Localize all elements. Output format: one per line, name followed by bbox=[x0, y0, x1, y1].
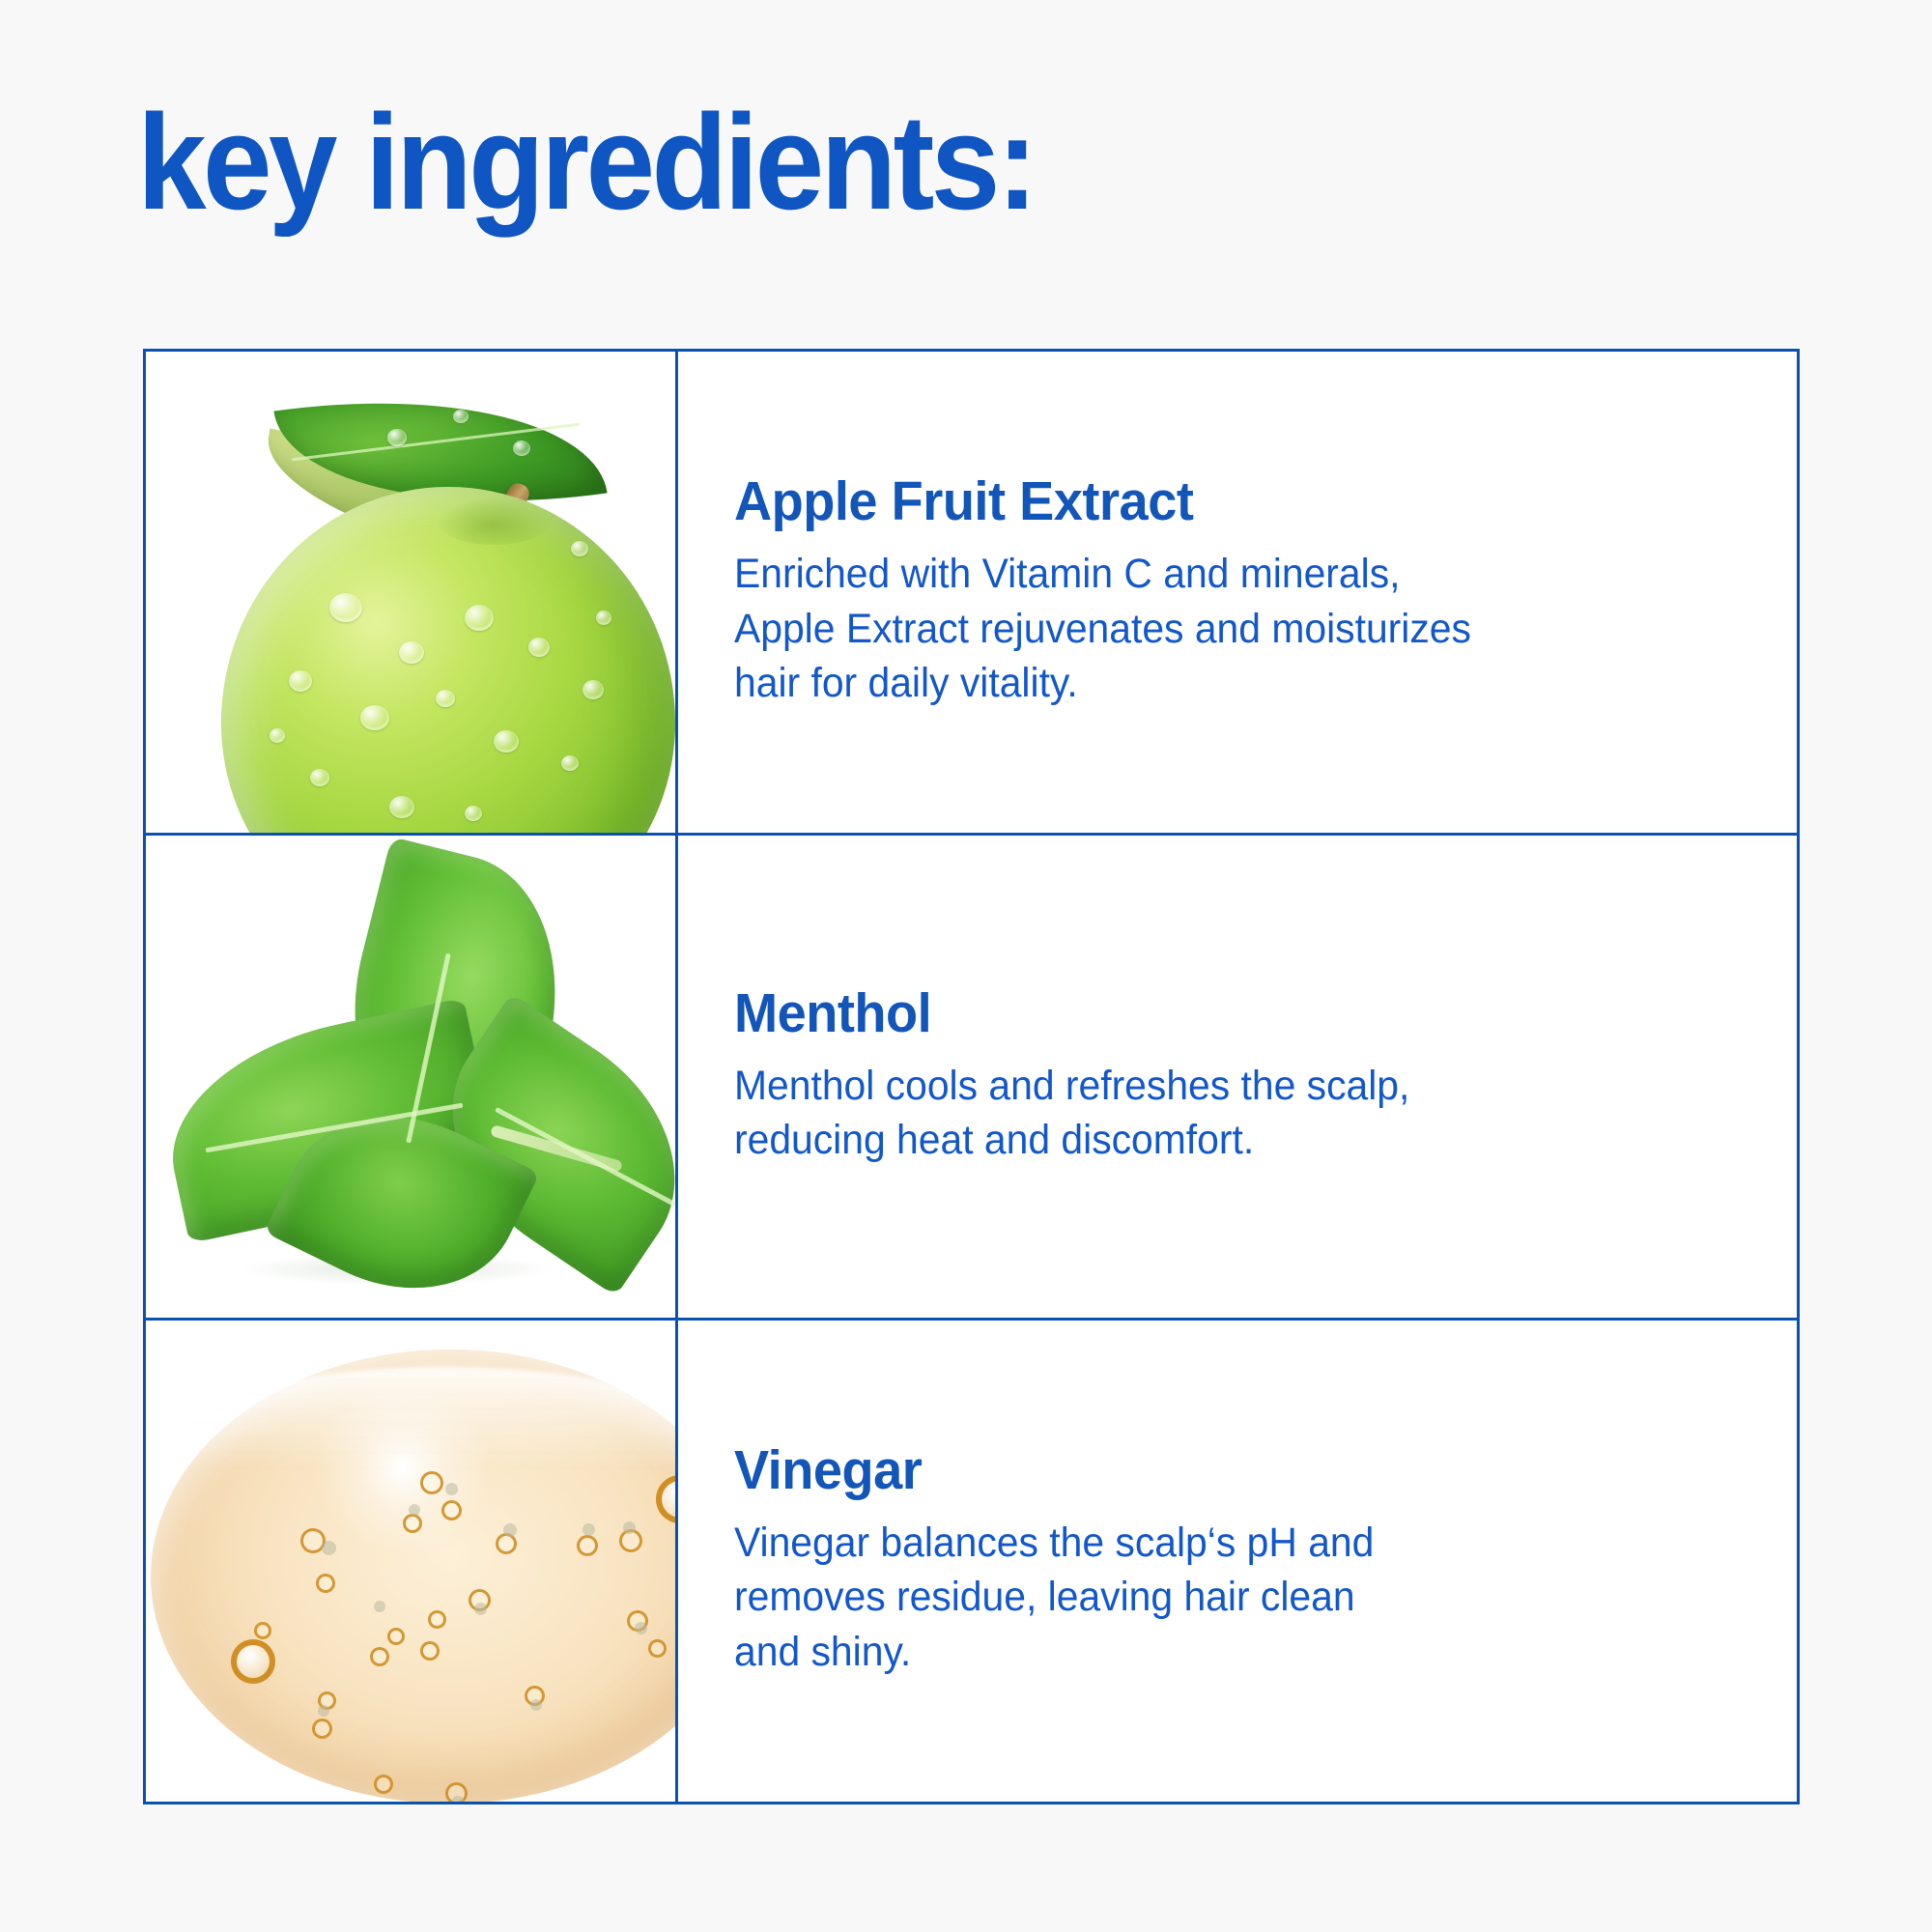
bubble-icon bbox=[387, 1628, 405, 1645]
bubble-dot-icon bbox=[374, 1601, 385, 1612]
water-drop-icon bbox=[453, 410, 469, 423]
bubble-dot-icon bbox=[582, 1523, 595, 1536]
ingredient-title: Menthol bbox=[734, 985, 1707, 1043]
ingredient-description: Vinegar balances the scalp‘s pH and remo… bbox=[734, 1516, 1707, 1680]
bubble-dot-icon bbox=[623, 1521, 636, 1534]
bubble-icon bbox=[374, 1775, 393, 1794]
water-drop-icon bbox=[289, 670, 312, 692]
water-drop-icon bbox=[310, 769, 329, 786]
water-drop-icon bbox=[436, 690, 455, 707]
bubble-icon bbox=[428, 1610, 446, 1629]
ingredient-image-apple bbox=[146, 352, 678, 833]
water-drop-icon bbox=[329, 593, 362, 622]
apple-body bbox=[221, 487, 675, 833]
bubble-icon bbox=[231, 1639, 275, 1684]
page-title: key ingredients: bbox=[137, 95, 1035, 230]
water-drop-icon bbox=[561, 755, 579, 771]
water-drop-icon bbox=[513, 440, 530, 456]
ingredient-title: Vinegar bbox=[734, 1442, 1707, 1500]
bubble-icon bbox=[403, 1514, 422, 1533]
water-drop-icon bbox=[465, 605, 494, 631]
ingredient-row: Apple Fruit Extract Enriched with Vitami… bbox=[146, 352, 1797, 836]
bubble-icon bbox=[420, 1471, 443, 1494]
apple-dimple bbox=[436, 497, 552, 545]
water-drop-icon bbox=[494, 730, 519, 753]
ingredient-image-vinegar bbox=[146, 1321, 678, 1802]
mint-illustration bbox=[146, 836, 675, 1317]
bubble-dot-icon bbox=[318, 1705, 329, 1717]
ingredient-row: Menthol Menthol cools and refreshes the … bbox=[146, 836, 1797, 1320]
ingredient-row: Vinegar Vinegar balances the scalp‘s pH … bbox=[146, 1321, 1797, 1802]
ingredients-grid: Apple Fruit Extract Enriched with Vitami… bbox=[143, 349, 1800, 1804]
bubble-icon bbox=[370, 1647, 389, 1666]
water-drop-icon bbox=[528, 638, 550, 657]
water-drop-icon bbox=[465, 806, 482, 821]
bubble-dot-icon bbox=[530, 1699, 542, 1711]
ingredient-text-menthol: Menthol Menthol cools and refreshes the … bbox=[678, 836, 1797, 1317]
key-ingredients-page: key ingredients: bbox=[0, 0, 1932, 1932]
ingredient-title: Apple Fruit Extract bbox=[734, 473, 1707, 531]
ingredient-text-apple: Apple Fruit Extract Enriched with Vitami… bbox=[678, 352, 1797, 833]
ingredient-image-menthol bbox=[146, 836, 678, 1317]
bubble-dot-icon bbox=[474, 1603, 487, 1615]
water-drop-icon bbox=[389, 796, 414, 818]
bubble-dot-icon bbox=[445, 1483, 458, 1495]
bubble-dot-icon bbox=[322, 1541, 336, 1555]
bubble-icon bbox=[254, 1622, 271, 1639]
apple-illustration bbox=[146, 352, 675, 833]
bubble-icon bbox=[420, 1641, 440, 1661]
ingredient-description: Menthol cools and refreshes the scalp, r… bbox=[734, 1059, 1707, 1169]
water-drop-icon bbox=[270, 728, 285, 743]
water-drop-icon bbox=[399, 641, 424, 664]
bubble-icon bbox=[312, 1719, 332, 1739]
ingredient-text-vinegar: Vinegar Vinegar balances the scalp‘s pH … bbox=[678, 1321, 1797, 1802]
bubble-dot-icon bbox=[409, 1504, 420, 1516]
water-drop-icon bbox=[571, 541, 588, 556]
bubble-dot-icon bbox=[635, 1622, 647, 1634]
water-drop-icon bbox=[360, 705, 389, 730]
bubble-dot-icon bbox=[503, 1523, 517, 1537]
water-drop-icon bbox=[596, 611, 611, 625]
bubble-icon bbox=[648, 1639, 667, 1658]
vinegar-gel-illustration bbox=[146, 1321, 675, 1802]
bubble-icon bbox=[441, 1500, 462, 1520]
water-drop-icon bbox=[582, 680, 604, 699]
ingredient-description: Enriched with Vitamin C and minerals, Ap… bbox=[734, 547, 1707, 711]
bubble-icon bbox=[316, 1574, 335, 1593]
water-drop-icon bbox=[387, 429, 407, 446]
bubble-icon bbox=[577, 1535, 598, 1556]
